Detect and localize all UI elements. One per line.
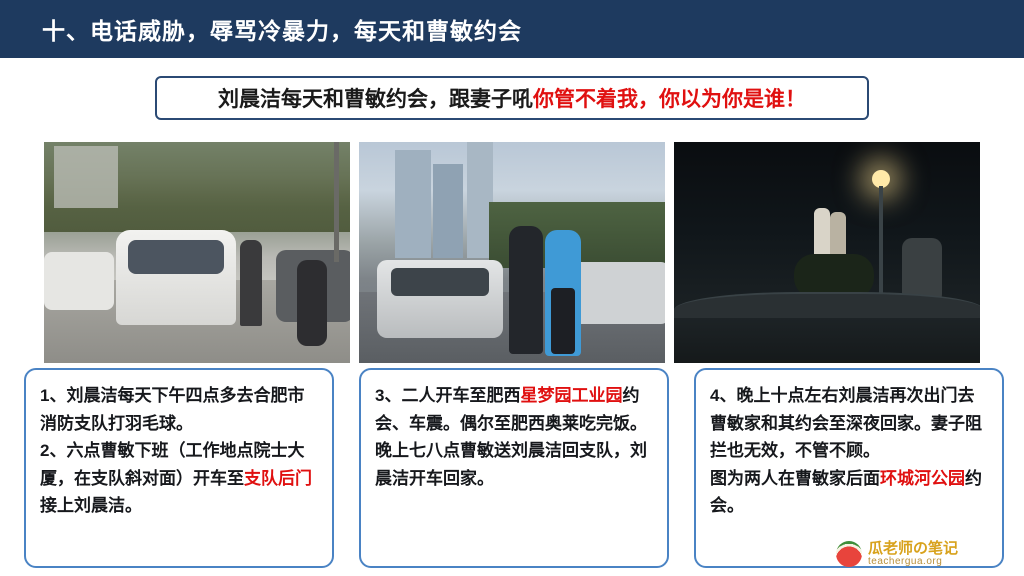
textbox-2-line-1-seg-1: 3、二人开车至肥西 bbox=[375, 386, 520, 405]
header-bar: 十、电话威胁，辱骂冷暴力，每天和曹敏约会 bbox=[0, 0, 1024, 58]
photo-two-men-street bbox=[357, 140, 667, 365]
photo2-car-right bbox=[567, 262, 667, 324]
textbox-1-line-2: 2、六点曹敏下班（工作地点院士大厦，在支队斜对面）开车至支队后门接上刘晨洁。 bbox=[40, 437, 318, 520]
textbox-1-line-1: 1、刘晨洁每天下午四点多去合肥市消防支队打羽毛球。 bbox=[40, 382, 318, 437]
textbox-2: 3、二人开车至肥西星梦园工业园约会、车震。偶尔至肥西奥莱吃完饭。晚上七八点曹敏送… bbox=[359, 368, 669, 568]
photo2-tower-left bbox=[395, 150, 431, 258]
photo2-man-dark-shirt bbox=[509, 226, 543, 354]
photo1-building bbox=[54, 146, 118, 208]
watermark-texts: 瓜老师の笔记 teachergua.org bbox=[868, 541, 958, 567]
photo2-car-silver bbox=[377, 260, 503, 338]
textbox-1-line-2-seg-3: 接上刘晨洁。 bbox=[40, 496, 142, 515]
textbox-2-line-1: 3、二人开车至肥西星梦园工业园约会、车震。偶尔至肥西奥莱吃完饭。晚上七八点曹敏送… bbox=[375, 382, 653, 492]
photo3-lamp-pole bbox=[879, 186, 883, 306]
page-title: 十、电话威胁，辱骂冷暴力，每天和曹敏约会 bbox=[42, 12, 522, 46]
photo3-ground bbox=[674, 318, 982, 365]
watermark-main-text: 瓜老师の笔记 bbox=[868, 541, 958, 557]
textbox-3-line-1: 4、晚上十点左右刘晨洁再次出门去曹敏家和其约会至深夜回家。妻子阻拦也无效，不管不… bbox=[710, 382, 988, 465]
subtitle-text: 刘晨洁每天和曹敏约会，跟妻子吼你管不着我，你以为你是谁！ bbox=[218, 83, 806, 113]
textbox-3-line-1-seg-1: 4、晚上十点左右刘晨洁再次出门去曹敏家和其约会至深夜回家。妻子阻拦也无效，不管不… bbox=[710, 386, 982, 460]
photo-night-park bbox=[672, 140, 982, 365]
photo1-person-crouching bbox=[297, 260, 327, 346]
photo1-person-standing bbox=[240, 240, 262, 326]
textbox-1-line-1-seg-1: 1、刘晨洁每天下午四点多去合肥市消防支队打羽毛球。 bbox=[40, 386, 304, 433]
subtitle-highlight: 你管不着我，你以为你是谁！ bbox=[533, 88, 806, 111]
watermelon-icon bbox=[836, 541, 862, 567]
watermark: 瓜老师の笔记 teachergua.org bbox=[836, 538, 1012, 570]
textbox-2-line-1-seg-2: 星梦园工业园 bbox=[520, 386, 622, 405]
subtitle-banner: 刘晨洁每天和曹敏约会，跟妻子吼你管不着我，你以为你是谁！ bbox=[155, 76, 869, 120]
photo2-tower-mid bbox=[433, 164, 463, 258]
textbox-3-line-2: 图为两人在曹敏家后面环城河公园约会。 bbox=[710, 465, 988, 520]
textbox-3-line-2-seg-2: 环城河公园 bbox=[880, 469, 965, 488]
photo2-man-blue-shirt bbox=[545, 230, 581, 356]
photo-street-cars bbox=[42, 140, 352, 365]
photo1-car-white bbox=[116, 230, 236, 325]
subtitle-prefix: 刘晨洁每天和曹敏约会，跟妻子吼 bbox=[218, 88, 533, 111]
textbox-1-line-2-seg-2: 支队后门 bbox=[244, 469, 312, 488]
photo1-car-left bbox=[44, 252, 114, 310]
textbox-1: 1、刘晨洁每天下午四点多去合肥市消防支队打羽毛球。 2、六点曹敏下班（工作地点院… bbox=[24, 368, 334, 568]
watermark-sub-text: teachergua.org bbox=[868, 557, 958, 568]
textbox-3-line-2-seg-1: 图为两人在曹敏家后面 bbox=[710, 469, 880, 488]
photo-row: 每天如此 每天如此 每天如此 bbox=[0, 140, 1024, 370]
photo1-pole bbox=[334, 142, 339, 262]
